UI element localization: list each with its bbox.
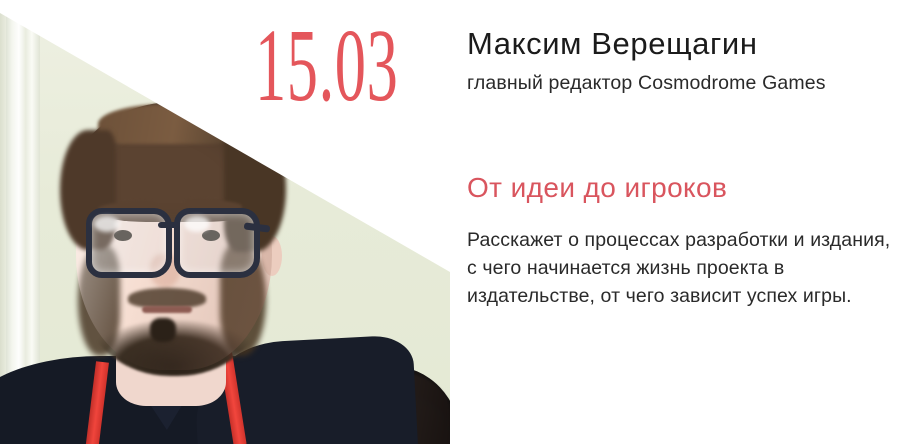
speaker-name: Максим Верещагин bbox=[467, 26, 758, 62]
talk-description: Расскажет о процессах разработки и издан… bbox=[467, 227, 892, 311]
moustache bbox=[128, 288, 206, 308]
talk-title: От идеи до игроков bbox=[467, 172, 727, 204]
glasses-bridge bbox=[158, 222, 180, 228]
speaker-role: главный редактор Cosmodrome Games bbox=[467, 70, 867, 96]
lens-glare-left bbox=[94, 216, 120, 232]
speaker-announcement-card: 15.03 Максим Верещагин главный редактор … bbox=[0, 0, 900, 444]
text-panel bbox=[450, 0, 900, 444]
soul-patch bbox=[150, 318, 176, 342]
speaker-mouth bbox=[142, 306, 192, 313]
lens-glare-right bbox=[184, 216, 210, 232]
event-date: 15.03 bbox=[255, 14, 398, 118]
